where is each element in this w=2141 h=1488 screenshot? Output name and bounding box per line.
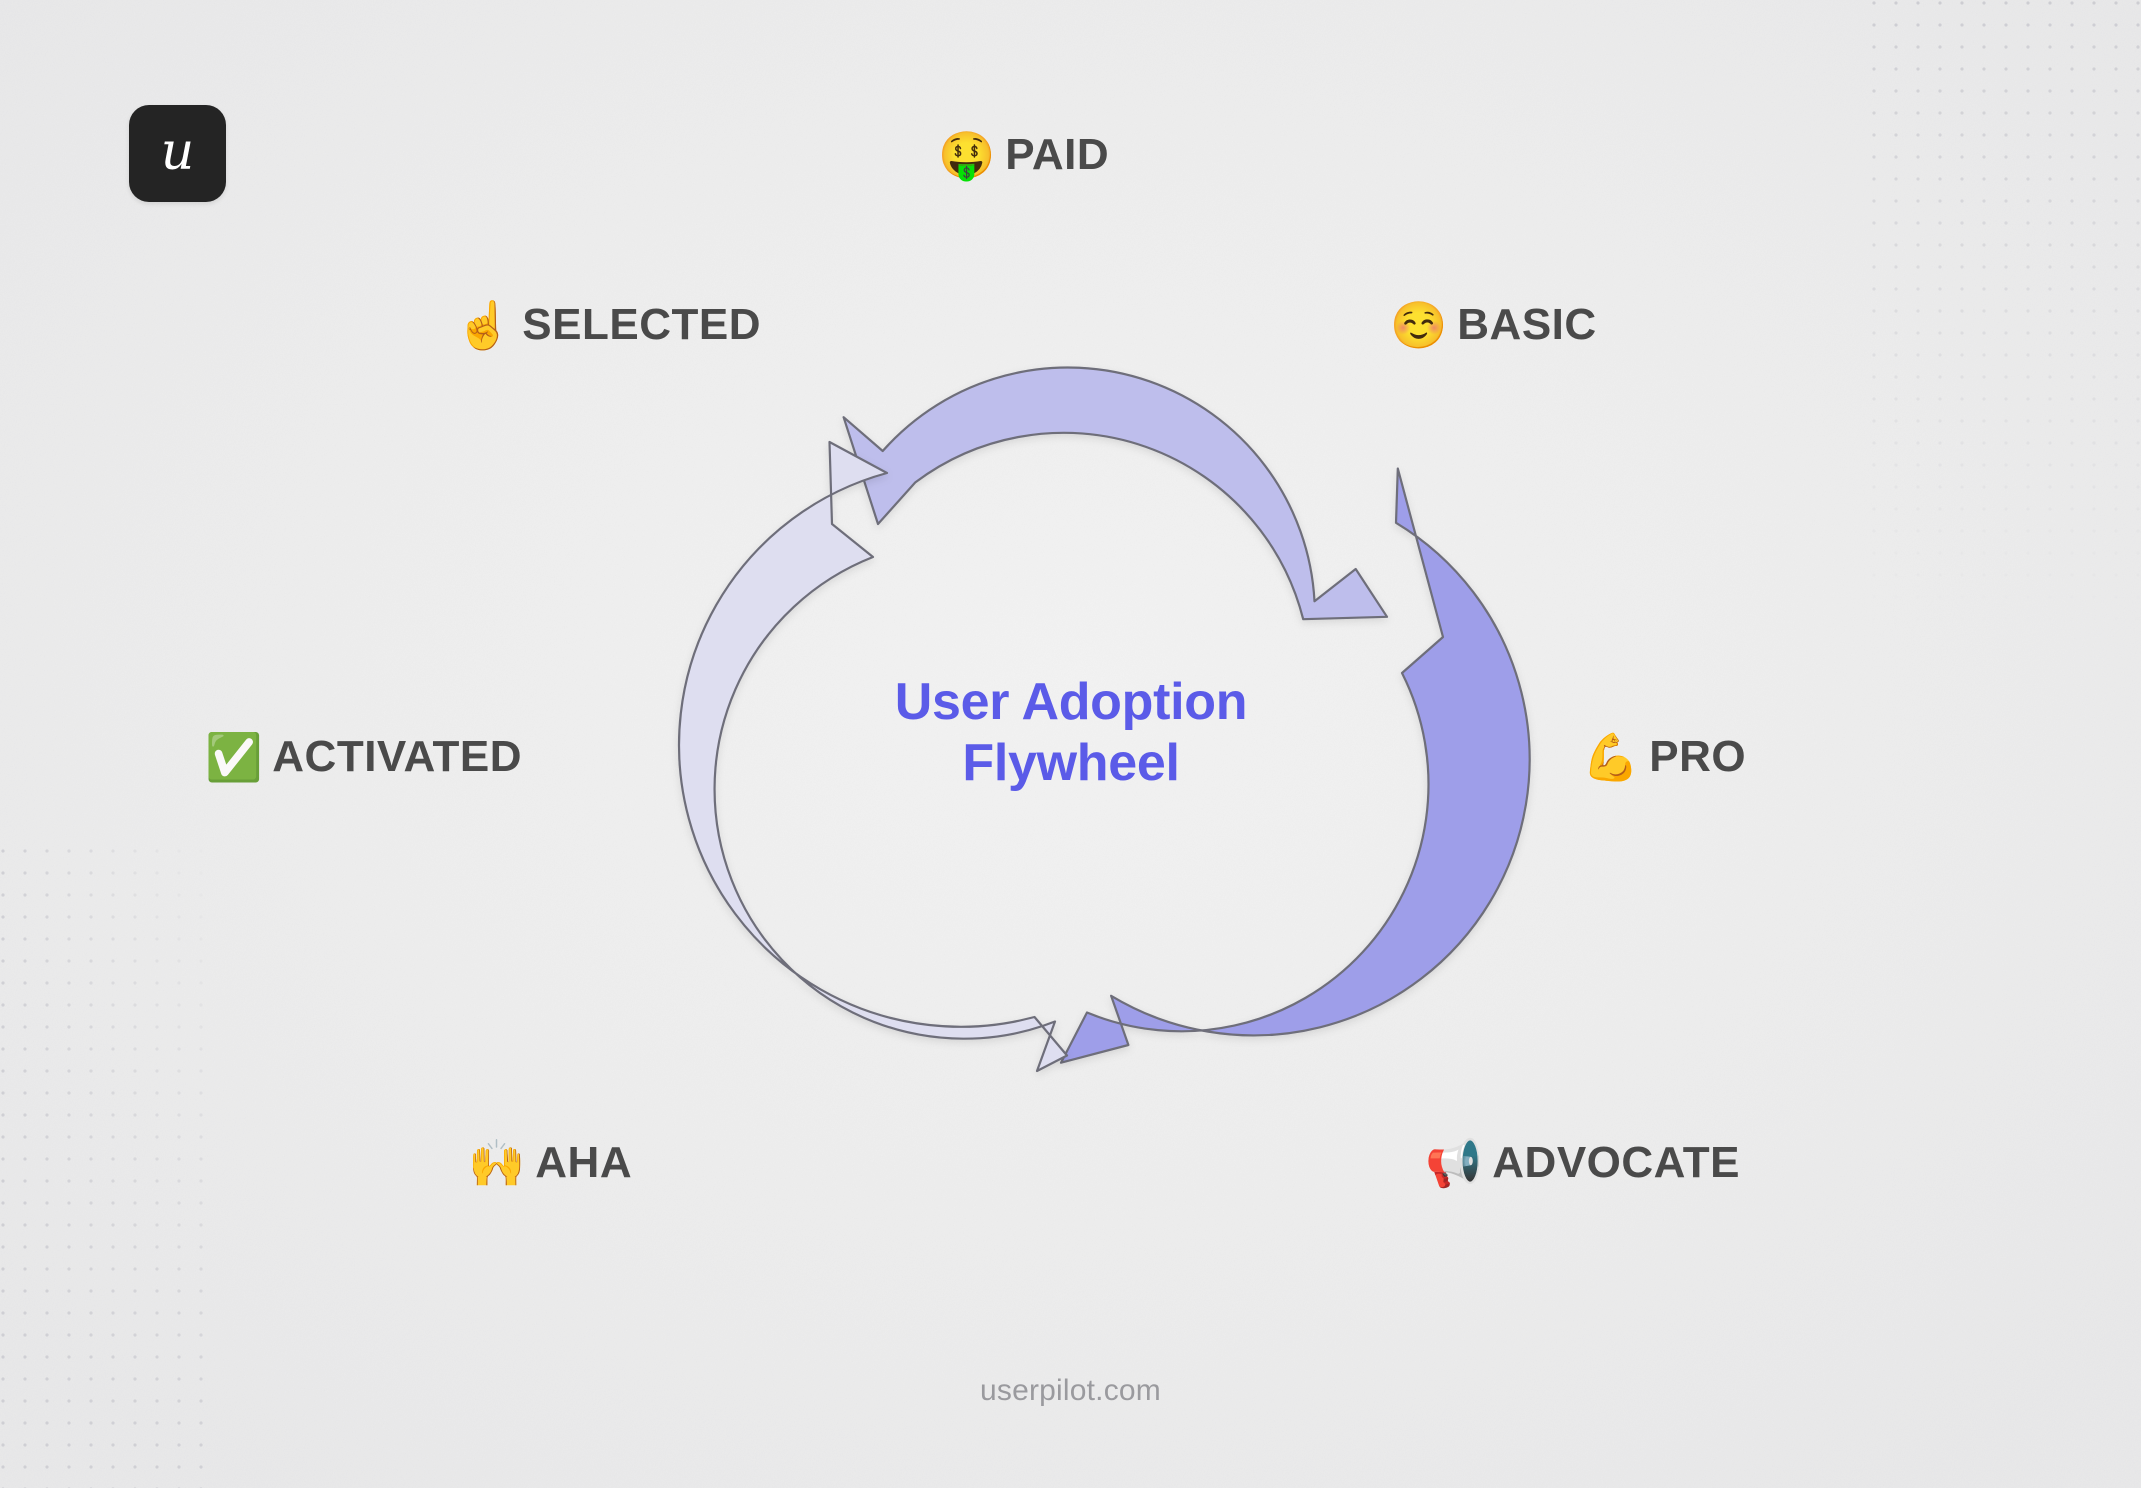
dot-grid-decoration-top-right (1871, 0, 2141, 640)
flywheel-donut-chart (597, 279, 1547, 1229)
money-mouth-face-icon: 🤑 (938, 132, 995, 178)
stage-label-basic[interactable]: ☺️ BASIC (1390, 302, 1597, 348)
stage-label-text-activated: ACTIVATED (272, 735, 522, 779)
loudspeaker-icon: 📢 (1425, 1140, 1482, 1186)
stage-label-text-paid: PAID (1005, 133, 1109, 177)
infographic-canvas: u User Adoption Flywheel 🤑 PAID ☺️ BASIC… (0, 0, 2141, 1488)
userpilot-u-logo-icon: u (161, 126, 195, 178)
stage-label-paid[interactable]: 🤑 PAID (938, 132, 1109, 178)
stage-label-selected[interactable]: ☝️ SELECTED (455, 302, 761, 348)
stage-label-text-aha: AHA (535, 1141, 632, 1185)
check-mark-button-icon: ✅ (205, 734, 262, 780)
flywheel-segment-left[interactable] (679, 442, 1067, 1071)
footer-website-url: userpilot.com (0, 1374, 2141, 1408)
userpilot-logo[interactable]: u (129, 105, 226, 202)
flexed-biceps-icon: 💪 (1582, 734, 1639, 780)
stage-label-aha[interactable]: 🙌 AHA (468, 1140, 632, 1186)
stage-label-advocate[interactable]: 📢 ADVOCATE (1425, 1140, 1740, 1186)
raising-hands-icon: 🙌 (468, 1140, 525, 1186)
flywheel-segment-top[interactable] (844, 367, 1387, 619)
stage-label-text-advocate: ADVOCATE (1492, 1141, 1740, 1185)
stage-label-text-basic: BASIC (1457, 303, 1596, 347)
stage-label-pro[interactable]: 💪 PRO (1582, 734, 1746, 780)
stage-label-text-pro: PRO (1649, 735, 1746, 779)
smiling-face-icon: ☺️ (1390, 302, 1447, 348)
stage-label-activated[interactable]: ✅ ACTIVATED (205, 734, 522, 780)
stage-label-text-selected: SELECTED (522, 303, 761, 347)
index-pointing-up-icon: ☝️ (455, 302, 512, 348)
